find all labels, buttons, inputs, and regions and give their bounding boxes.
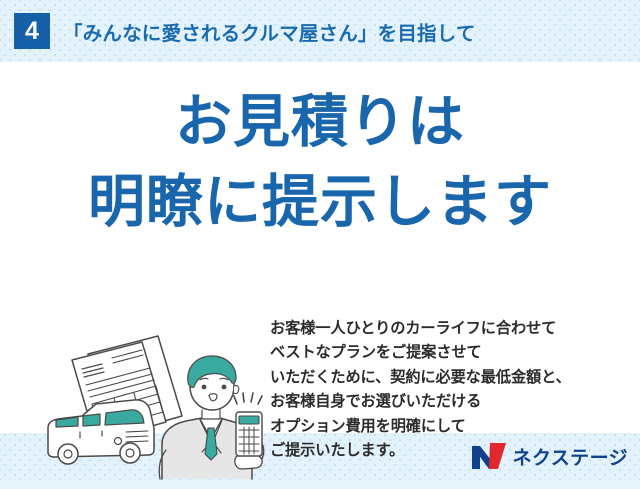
promo-slide: 4 「みんなに愛されるクルマ屋さん」を目指して お見積りは 明瞭に提示します お…	[0, 0, 640, 480]
section-number-badge: 4	[14, 13, 50, 49]
header: 4 「みんなに愛されるクルマ屋さん」を目指して	[0, 0, 640, 62]
body-line-1: お客様一人ひとりのカーライフに合わせて	[270, 317, 630, 341]
brand-name: ネクステージ	[513, 443, 628, 470]
brand-logo: ネクステージ	[472, 441, 628, 471]
header-title: 「みんなに愛されるクルマ屋さん」を目指して	[63, 17, 476, 46]
page-title: お見積りは 明瞭に提示します	[0, 82, 640, 242]
headline-line-1: お見積りは	[0, 82, 640, 162]
footer: ネクステージ	[0, 433, 640, 480]
nextage-n-logo-icon	[472, 443, 506, 469]
content-card: お見積りは 明瞭に提示します お客様一人ひとりのカーライフに合わせて ベストなプ…	[0, 62, 640, 433]
sparkle-icon	[234, 393, 262, 404]
body-line-2: ベストなプランをご提案させて	[270, 341, 630, 365]
body-line-3: いただくために、契約に必要な最低金額と、	[270, 366, 630, 390]
body-line-4: お客様自身でお選びいただける	[270, 390, 630, 414]
headline-line-2: 明瞭に提示します	[0, 162, 640, 242]
